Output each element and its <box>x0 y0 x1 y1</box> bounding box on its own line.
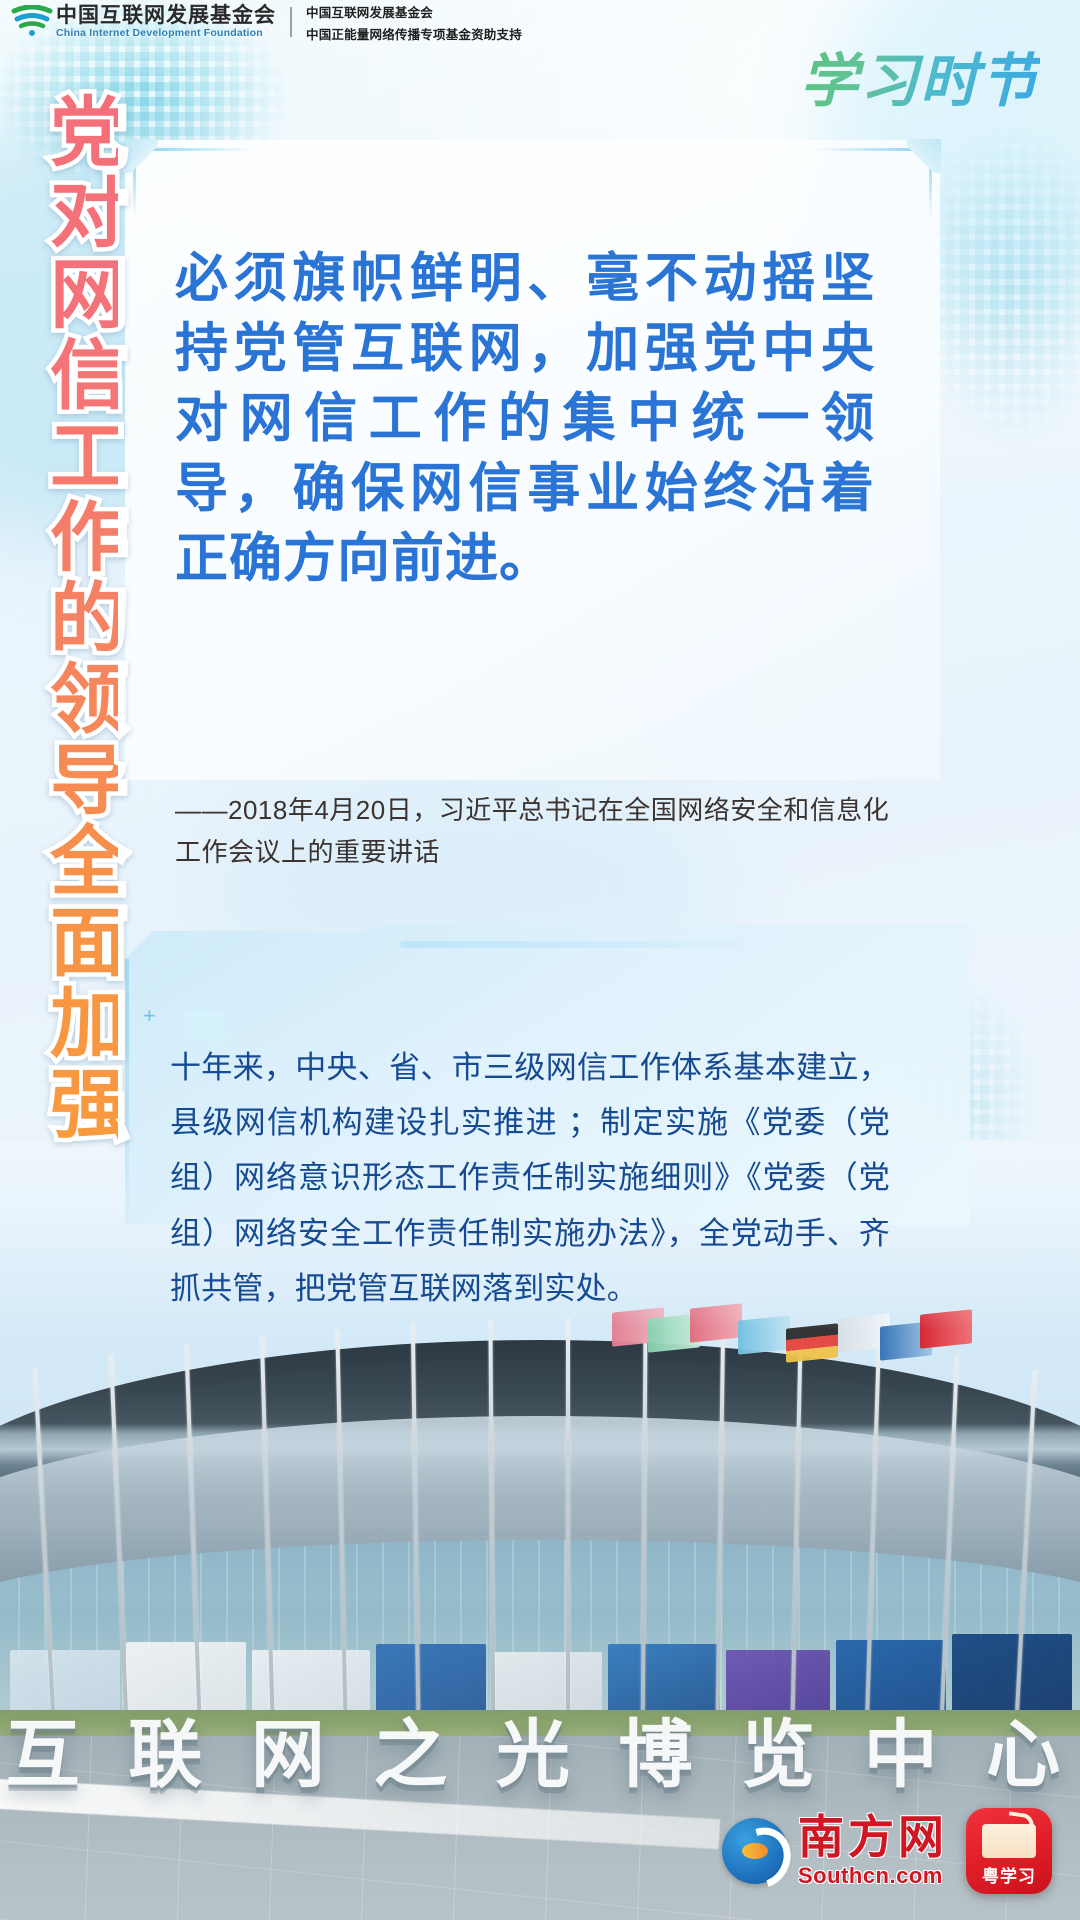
southcn-mark-icon <box>722 1818 788 1884</box>
cidf-wordmark: 中国互联网发展基金会 China Internet Development Fo… <box>56 5 276 39</box>
body-text: 十年来，中央、省、市三级网信工作体系基本建立，县级网信机构建设扎实推进 ；制定实… <box>170 1040 890 1316</box>
sponsor-note-line2: 中国正能量网络传播专项基金资助支持 <box>306 24 522 43</box>
southcn-name-cn: 南方网 <box>798 1815 948 1861</box>
header-divider <box>290 7 292 37</box>
yuexuexi-app-icon[interactable]: 粤学习 <box>966 1808 1052 1894</box>
book-icon <box>982 1824 1036 1858</box>
cidf-name-en: China Internet Development Foundation <box>56 28 276 39</box>
southcn-wordmark: 南方网 Southcn.com <box>798 1815 948 1887</box>
southcn-name-en: Southcn.com <box>798 1865 948 1887</box>
yuexuexi-label: 粤学习 <box>982 1862 1036 1887</box>
sponsor-note-line1: 中国互联网发展基金会 <box>306 2 522 21</box>
poster-root: 中国互联网发展基金会 China Internet Development Fo… <box>0 0 1080 1920</box>
venue-sign-text: 互 联 网 之 光 博 览 中 心 <box>0 1695 1080 1802</box>
brand-title: 学习时节 <box>800 34 1040 118</box>
cidf-logo-icon <box>10 5 54 39</box>
southcn-mark-inner <box>742 1843 768 1859</box>
cidf-name-cn: 中国互联网发展基金会 <box>56 5 276 26</box>
footer-logos: 南方网 Southcn.com 粤学习 <box>722 1808 1052 1894</box>
quote-source: ——2018年4月20日，习近平总书记在全国网络安全和信息化工作会议上的重要讲话 <box>175 790 895 873</box>
vertical-headline: 党对网信工作的领导全面加强 <box>26 92 118 1145</box>
southcn-logo[interactable]: 南方网 Southcn.com <box>722 1815 948 1887</box>
quote-text: 必须旗帜鲜明、毫不动摇坚持党管互联网，加强党中央对网信工作的集中统一领导，确保网… <box>175 245 875 595</box>
sponsor-note: 中国互联网发展基金会 中国正能量网络传播专项基金资助支持 <box>306 2 522 43</box>
